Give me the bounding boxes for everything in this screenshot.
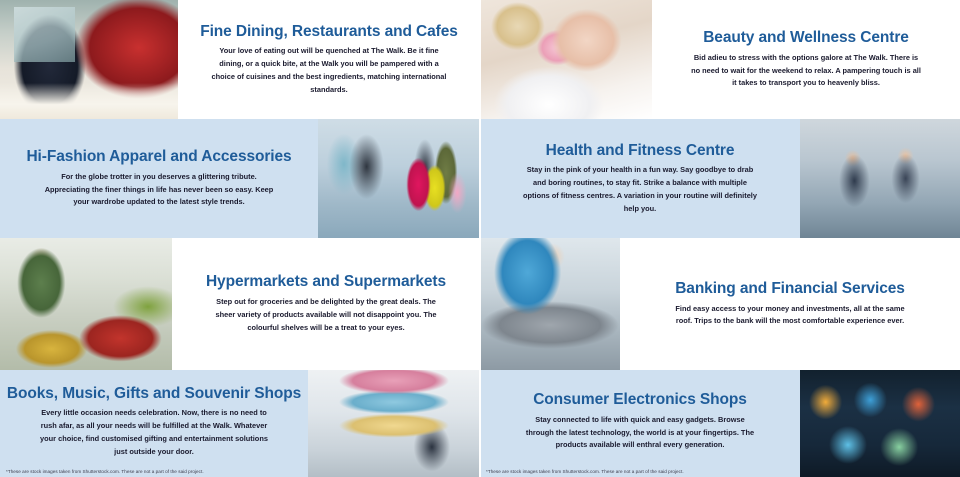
supermarket-produce-photo	[0, 238, 172, 370]
section-hypermarkets-text: Hypermarkets and Supermarkets Step out f…	[172, 238, 480, 370]
section-beauty-wellness-heading: Beauty and Wellness Centre	[703, 29, 909, 47]
section-consumer-electronics-heading: Consumer Electronics Shops	[533, 391, 747, 409]
section-consumer-electronics-text: Consumer Electronics Shops Stay connecte…	[480, 370, 800, 477]
section-consumer-electronics: Consumer Electronics Shops Stay connecte…	[480, 370, 960, 477]
section-beauty-wellness-text: Beauty and Wellness Centre Bid adieu to …	[652, 0, 960, 119]
gym-workout-photo	[800, 119, 960, 238]
section-hypermarkets: Hypermarkets and Supermarkets Step out f…	[0, 238, 480, 370]
section-beauty-wellness-body: Bid adieu to stress with the options gal…	[689, 52, 924, 90]
brochure-page: Fine Dining, Restaurants and Cafes Your …	[0, 0, 960, 477]
right-column: Beauty and Wellness Centre Bid adieu to …	[480, 0, 960, 477]
section-health-fitness-body: Stay in the pink of your health in a fun…	[523, 164, 758, 215]
section-beauty-wellness: Beauty and Wellness Centre Bid adieu to …	[480, 0, 960, 119]
section-health-fitness-text: Health and Fitness Centre Stay in the pi…	[480, 119, 800, 238]
section-health-fitness: Health and Fitness Centre Stay in the pi…	[480, 119, 960, 238]
column-divider	[479, 0, 481, 477]
section-fine-dining-text: Fine Dining, Restaurants and Cafes Your …	[178, 0, 480, 119]
section-hypermarkets-body: Step out for groceries and be delighted …	[209, 296, 444, 334]
left-column-disclaimer: *These are stock images taken from Shutt…	[6, 469, 204, 474]
right-column-disclaimer: *These are stock images taken from Shutt…	[486, 469, 684, 474]
section-fine-dining-body: Your love of eating out will be quenched…	[212, 45, 447, 96]
restaurant-couple-photo	[0, 0, 178, 119]
section-hi-fashion-body: For the globe trotter in you deserves a …	[42, 171, 277, 209]
section-hi-fashion-text: Hi-Fashion Apparel and Accessories For t…	[0, 119, 318, 238]
bank-teller-photo	[480, 238, 620, 370]
section-fine-dining-heading: Fine Dining, Restaurants and Cafes	[200, 23, 458, 41]
mall-shoppers-photo	[318, 119, 480, 238]
electronics-tv-wall-photo	[800, 370, 960, 477]
left-column: Fine Dining, Restaurants and Cafes Your …	[0, 0, 480, 477]
section-books-music-gifts: Books, Music, Gifts and Souvenir Shops E…	[0, 370, 480, 477]
section-banking-financial: Banking and Financial Services Find easy…	[480, 238, 960, 370]
section-consumer-electronics-body: Stay connected to life with quick and ea…	[523, 414, 758, 452]
spa-treatment-photo	[480, 0, 652, 119]
section-hi-fashion: Hi-Fashion Apparel and Accessories For t…	[0, 119, 480, 238]
section-books-music-gifts-body: Every little occasion needs celebration.…	[37, 407, 272, 458]
section-fine-dining: Fine Dining, Restaurants and Cafes Your …	[0, 0, 480, 119]
section-books-music-gifts-text: Books, Music, Gifts and Souvenir Shops E…	[0, 370, 308, 477]
section-banking-financial-text: Banking and Financial Services Find easy…	[620, 238, 960, 370]
section-banking-financial-body: Find easy access to your money and inves…	[673, 303, 908, 328]
section-books-music-gifts-heading: Books, Music, Gifts and Souvenir Shops	[7, 385, 301, 403]
section-hi-fashion-heading: Hi-Fashion Apparel and Accessories	[26, 148, 291, 166]
bookstore-aisle-photo	[308, 370, 480, 477]
section-banking-financial-heading: Banking and Financial Services	[675, 280, 905, 298]
section-hypermarkets-heading: Hypermarkets and Supermarkets	[206, 273, 446, 291]
section-health-fitness-heading: Health and Fitness Centre	[546, 142, 735, 160]
